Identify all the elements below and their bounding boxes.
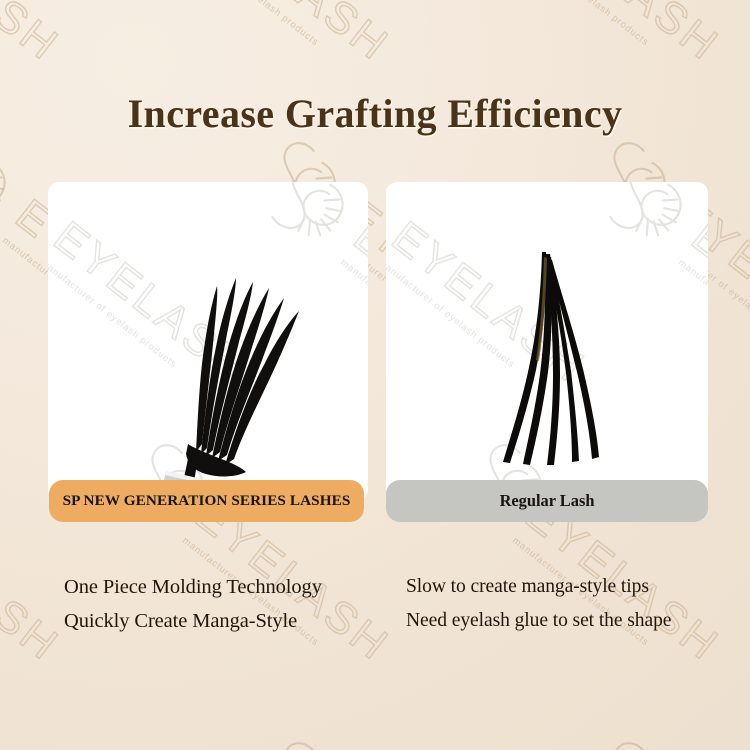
watermark-brand: EYELASH	[518, 0, 727, 69]
eyelash-logo-icon	[241, 720, 368, 750]
comparison-column-regular: EYELASH manufacturer of eyelash products…	[386, 182, 708, 522]
regular-lash-label[interactable]: Regular Lash	[386, 480, 708, 522]
promo-graphic: EYELASH manufacturer of eyelash products…	[0, 0, 750, 750]
watermark-mark: EYELASH manufacturer of eyelash products	[571, 720, 750, 750]
regular-lash-strands-illustration	[386, 182, 708, 500]
photo-content: EYELASH manufacturer of eyelash products…	[386, 182, 708, 500]
watermark-mark: EYELASH manufacturer of eyelash products	[0, 0, 78, 97]
eyelash-logo-icon	[0, 720, 38, 750]
comparison-column-new-generation: EYELASH manufacturer of eyelash products…	[48, 182, 368, 522]
photo-content: EYELASH manufacturer of eyelash products…	[48, 182, 368, 500]
watermark-mark: EYELASH manufacturer of eyelash products	[421, 0, 738, 97]
list-item: One Piece Molding Technology	[64, 570, 322, 604]
watermark-brand: EYELASH	[188, 0, 397, 69]
eyelash-logo-icon	[0, 720, 38, 750]
list-item: Need eyelash glue to set the shape	[406, 604, 671, 638]
watermark-mark: EYELASH manufacturer of eyelash products	[0, 720, 228, 750]
watermark-tagline: manufacturer of eyelash products	[0, 0, 36, 84]
eyelash-logo-icon	[241, 720, 368, 750]
new-generation-bullet-list: One Piece Molding Technology Quickly Cre…	[64, 570, 322, 638]
watermark-mark: EYELASH manufacturer of eyelash products	[241, 720, 558, 750]
watermark-tagline: manufacturer of eyelash products	[0, 535, 36, 683]
eyelash-logo-icon	[0, 120, 38, 249]
regular-lash-photo: EYELASH manufacturer of eyelash products…	[386, 182, 708, 500]
watermark-tagline: manufacturer of eyelash products	[180, 0, 366, 84]
eyelash-logo-icon	[0, 120, 38, 249]
eyelash-logo-icon	[571, 720, 698, 750]
watermark-mark: EYELASH manufacturer of eyelash products	[91, 0, 408, 97]
regular-lash-bullet-list: Slow to create manga-style tips Need eye…	[406, 570, 671, 638]
new-generation-label[interactable]: SP NEW GENERATION SERIES LASHES	[49, 480, 364, 522]
list-item: Slow to create manga-style tips	[406, 570, 671, 604]
watermark-brand: EYELASH	[0, 0, 67, 69]
page-title: Increase Grafting Efficiency	[0, 90, 750, 137]
watermark-tagline: manufacturer of eyelash products	[510, 0, 696, 84]
list-item: Quickly Create Manga-Style	[64, 604, 322, 638]
eyelash-logo-icon	[571, 720, 698, 750]
new-generation-lash-photo: EYELASH manufacturer of eyelash products…	[48, 182, 368, 500]
lash-fan-illustration	[48, 182, 368, 500]
